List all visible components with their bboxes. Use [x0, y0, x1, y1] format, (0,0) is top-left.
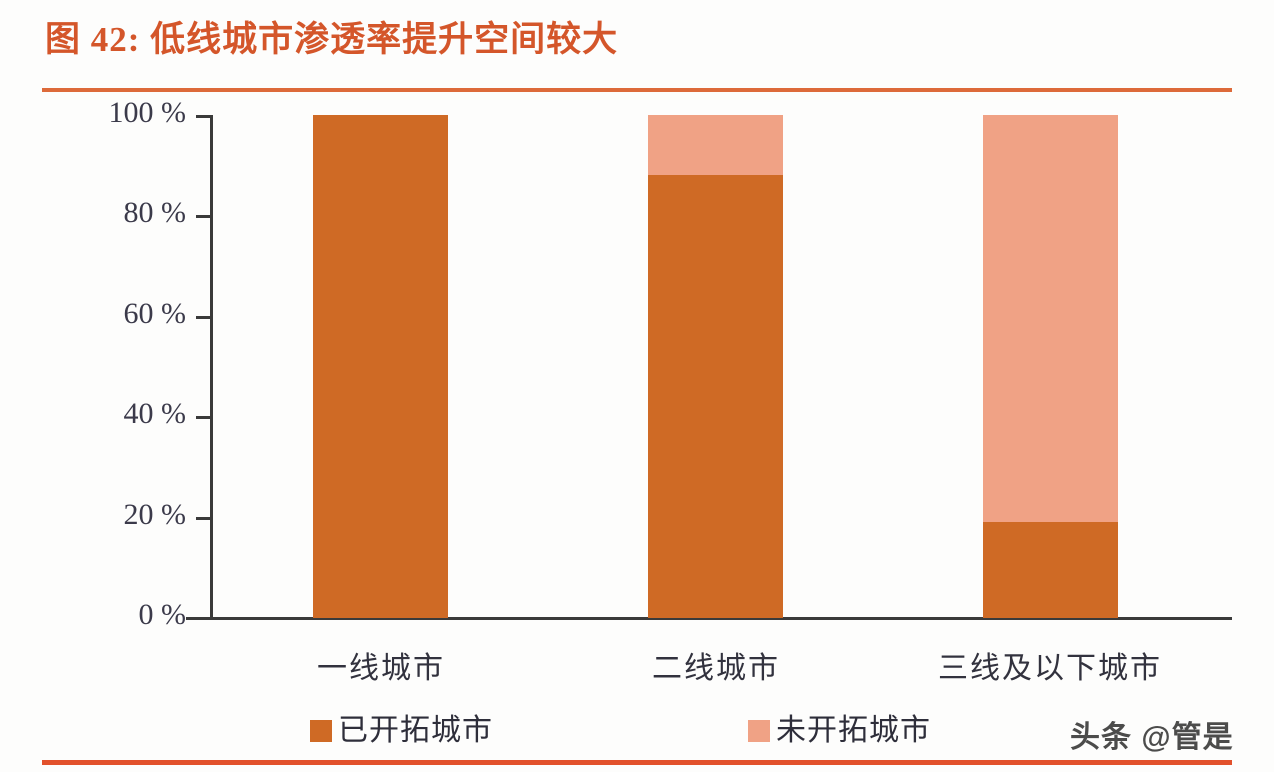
- y-tick-80: [196, 215, 211, 218]
- legend-item-developed[interactable]: 已开拓城市: [310, 716, 493, 746]
- bar-segment-developed-tier2[interactable]: [648, 175, 783, 618]
- bar-stack-tier2[interactable]: [648, 115, 783, 618]
- legend-swatch-icon-developed: [310, 720, 332, 742]
- y-tick-label-100: 100 %: [66, 96, 186, 130]
- y-tick-60: [196, 316, 211, 319]
- y-tick-label-40: 40 %: [66, 397, 186, 431]
- bar-stack-tier3[interactable]: [983, 115, 1118, 618]
- bar-segment-undeveloped-tier2[interactable]: [648, 115, 783, 175]
- chart-plot-area: 100 % 80 % 60 % 40 % 20 % 0 % 一线城市 二线城市 …: [0, 0, 1274, 772]
- y-tick-label-20: 20 %: [66, 498, 186, 532]
- footer-divider: [42, 760, 1232, 765]
- y-tick-0: [196, 617, 211, 620]
- y-tick-label-60: 60 %: [66, 297, 186, 331]
- figure-page: 图 42: 低线城市渗透率提升空间较大 100 % 80 % 60 % 40 %…: [0, 0, 1274, 772]
- y-tick-label-0: 0 %: [66, 598, 186, 632]
- legend-swatch-icon-undeveloped: [748, 720, 770, 742]
- bar-segment-undeveloped-tier3[interactable]: [983, 115, 1118, 522]
- x-axis-label-tier2: 二线城市: [625, 643, 807, 687]
- y-axis-line: [210, 115, 213, 620]
- legend-label-undeveloped: 未开拓城市: [776, 716, 931, 746]
- x-axis-label-tier1: 一线城市: [290, 643, 472, 687]
- bar-segment-developed-tier1[interactable]: [313, 115, 448, 618]
- legend-label-developed: 已开拓城市: [338, 716, 493, 746]
- x-axis-label-tier3: 三线及以下城市: [930, 643, 1170, 687]
- y-tick-20: [196, 517, 211, 520]
- y-tick-40: [196, 416, 211, 419]
- bar-stack-tier1[interactable]: [313, 115, 448, 618]
- y-tick-100: [196, 115, 211, 118]
- legend-item-undeveloped[interactable]: 未开拓城市: [748, 716, 931, 746]
- watermark-text: 头条 @管是: [1070, 712, 1234, 756]
- bar-segment-developed-tier3[interactable]: [983, 522, 1118, 618]
- y-tick-label-80: 80 %: [66, 196, 186, 230]
